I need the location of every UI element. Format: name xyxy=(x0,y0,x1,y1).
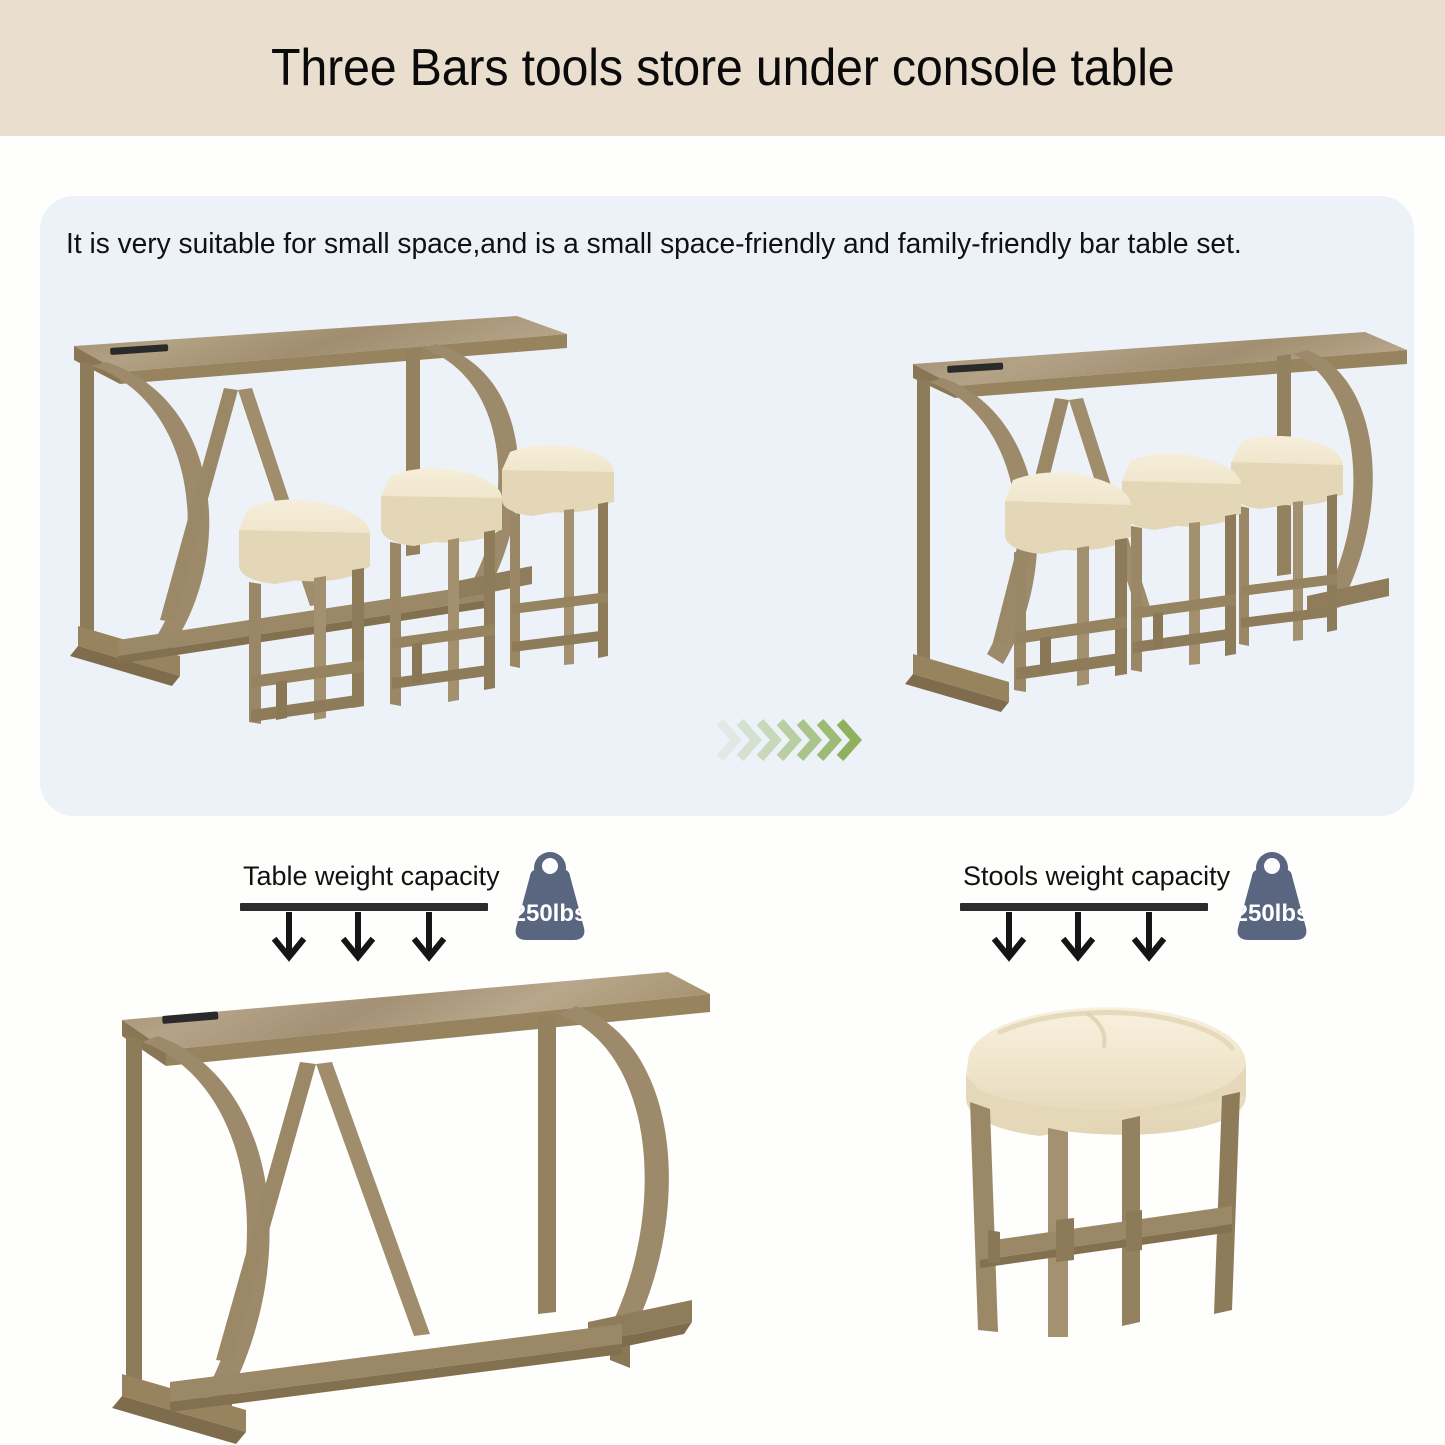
down-arrow-icon xyxy=(272,913,306,965)
weight-icon xyxy=(500,848,600,944)
down-arrow-icon xyxy=(1132,913,1166,965)
table-capacity-bar xyxy=(240,903,488,911)
stool-back xyxy=(502,445,614,668)
stool-tucked-middle xyxy=(1122,453,1241,672)
down-arrow-icon xyxy=(1061,913,1095,965)
table-capacity-value: 250lbs xyxy=(500,900,600,928)
product-console-table xyxy=(100,962,725,1427)
weight-icon xyxy=(1222,848,1322,944)
chevron-right-icon xyxy=(836,718,862,762)
table-capacity-label: Table weight capacity xyxy=(243,861,500,892)
stools-capacity-label: Stools weight capacity xyxy=(963,861,1230,892)
stools-capacity-bar xyxy=(960,903,1208,911)
page-title: Three Bars tools store under console tab… xyxy=(271,38,1174,98)
stools-capacity-value: 250lbs xyxy=(1222,900,1322,928)
scene-stools-tucked xyxy=(895,324,1415,724)
product-stool xyxy=(940,992,1285,1337)
infographic-page: Three Bars tools store under console tab… xyxy=(0,0,1445,1445)
down-arrow-icon xyxy=(412,913,446,965)
hero-panel: It is very suitable for small space,and … xyxy=(40,196,1414,816)
header-banner: Three Bars tools store under console tab… xyxy=(0,0,1445,136)
down-arrow-icon xyxy=(992,913,1026,965)
down-arrow-icon xyxy=(341,913,375,965)
transition-chevrons xyxy=(716,714,888,766)
hero-caption: It is very suitable for small space,and … xyxy=(66,228,1356,261)
scene-stools-out xyxy=(62,304,662,734)
stool-tucked-front xyxy=(1005,472,1131,692)
